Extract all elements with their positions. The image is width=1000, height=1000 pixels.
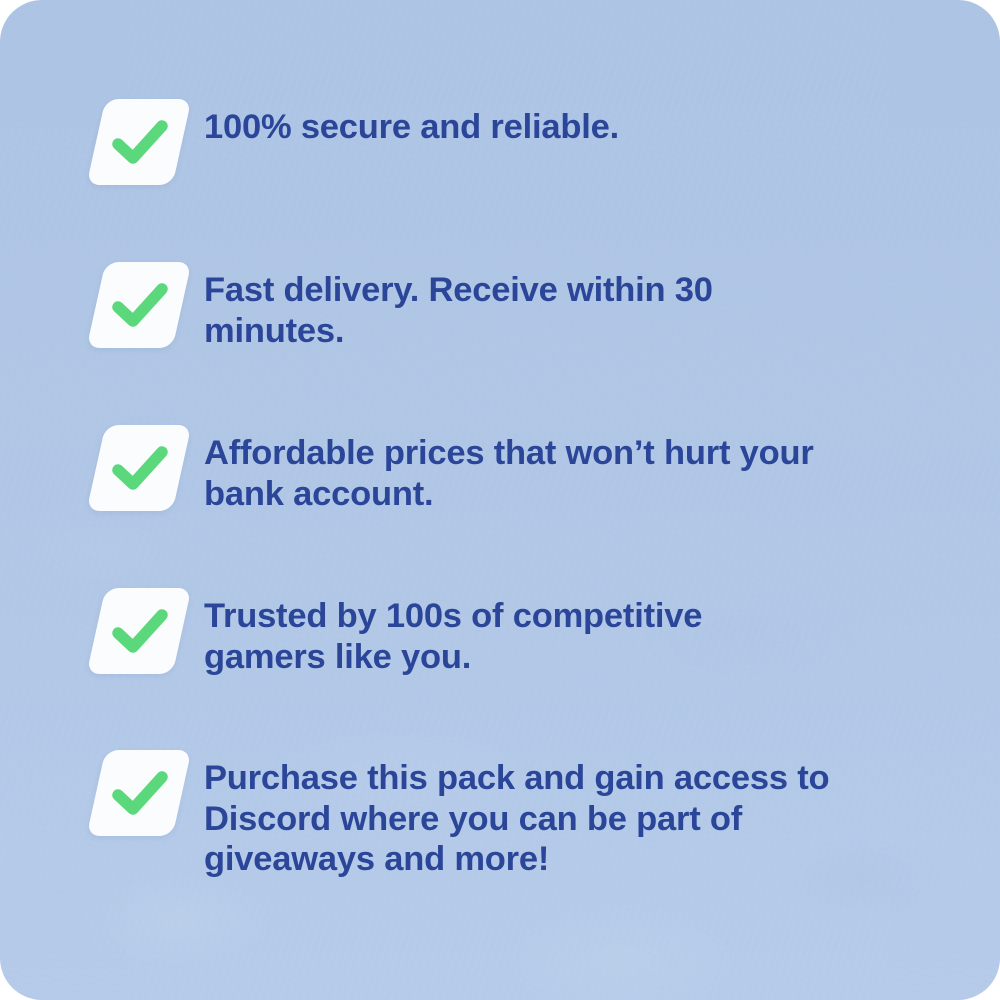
check-badge (96, 99, 182, 185)
check-mark-icon (96, 750, 182, 836)
check-badge (96, 262, 182, 348)
check-badge (96, 750, 182, 836)
check-badge (96, 588, 182, 674)
check-mark-icon (96, 425, 182, 511)
list-item: Purchase this pack and gain access to Di… (96, 748, 852, 880)
check-badge (96, 425, 182, 511)
list-item-label: Affordable prices that won’t hurt your b… (204, 423, 859, 514)
list-item: Trusted by 100s of competitive gamers li… (96, 586, 829, 677)
check-mark-icon (96, 588, 182, 674)
benefits-promo-card: 100% secure and reliable. Fast delivery.… (0, 0, 1000, 1000)
list-item-label: Purchase this pack and gain access to Di… (204, 748, 852, 880)
check-mark-icon (96, 262, 182, 348)
list-item: Affordable prices that won’t hurt your b… (96, 423, 859, 514)
check-mark-icon (96, 99, 182, 185)
list-item-label: 100% secure and reliable. (204, 97, 619, 148)
list-item-label: Trusted by 100s of competitive gamers li… (204, 586, 829, 677)
list-item: 100% secure and reliable. (96, 97, 619, 185)
benefits-list: 100% secure and reliable. Fast delivery.… (0, 0, 1000, 1000)
list-item: Fast delivery. Receive within 30 minutes… (96, 260, 842, 351)
list-item-label: Fast delivery. Receive within 30 minutes… (204, 260, 842, 351)
